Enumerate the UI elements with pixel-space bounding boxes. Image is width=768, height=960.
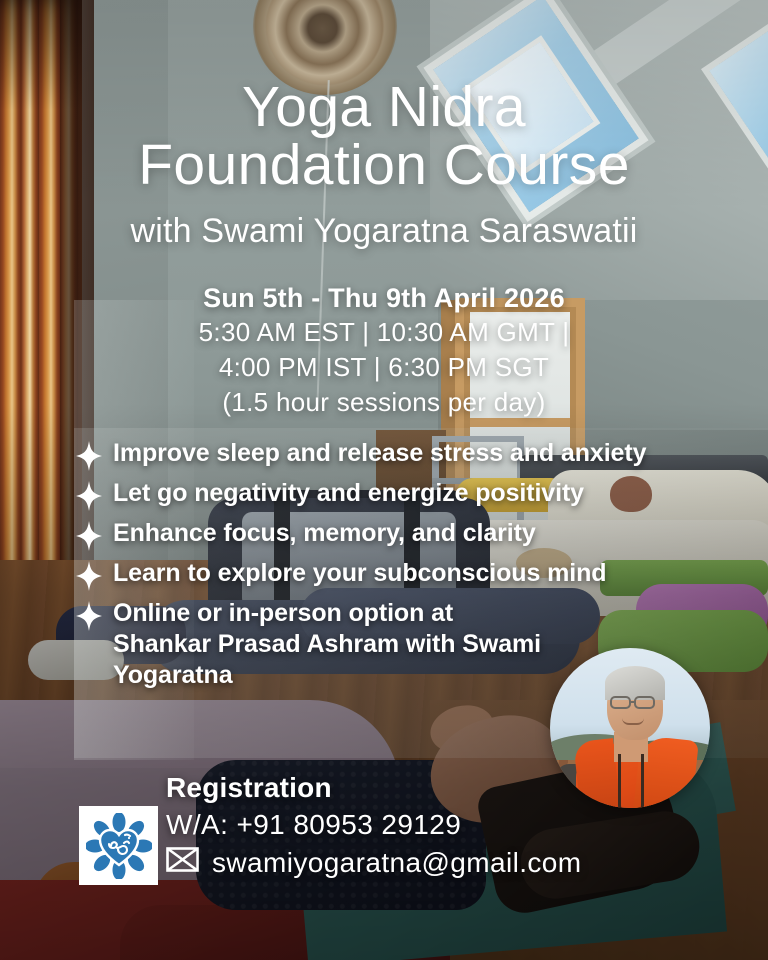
benefit-text: Learn to explore your subconscious mind (113, 558, 606, 589)
benefit-text: Improve sleep and release stress and anx… (113, 438, 646, 469)
four-point-star-icon (76, 441, 102, 471)
benefit-text: Let go negativity and energize positivit… (113, 478, 584, 509)
envelope-icon (166, 844, 199, 882)
four-point-star-icon (76, 481, 102, 511)
whatsapp-line: W/A: +91 80953 29129 (166, 806, 726, 844)
registration-block: Registration W/A: +91 80953 29129 swamiy… (166, 770, 726, 882)
subtitle: with Swami Yogaratna Saraswatii (0, 212, 768, 250)
four-point-star-icon (76, 561, 102, 591)
benefit-text: Online or in-person option at Shankar Pr… (113, 598, 553, 691)
title-line-2: Foundation Course (0, 136, 768, 194)
list-item: Learn to explore your subconscious mind (76, 558, 736, 591)
list-item: Improve sleep and release stress and anx… (76, 438, 736, 471)
poster-content: Yoga Nidra Foundation Course with Swami … (0, 0, 768, 960)
yoga-nidra-course-poster: Yoga Nidra Foundation Course with Swami … (0, 0, 768, 960)
date-range: Sun 5th - Thu 9th April 2026 (0, 282, 768, 315)
times-line-1: 5:30 AM EST | 10:30 AM GMT | (0, 315, 768, 350)
schedule-block: Sun 5th - Thu 9th April 2026 5:30 AM EST… (0, 282, 768, 420)
list-item: Let go negativity and energize positivit… (76, 478, 736, 511)
portrait-smile (622, 718, 644, 725)
whatsapp-number[interactable]: W/A: +91 80953 29129 (166, 806, 461, 844)
portrait-glasses-left-lens (610, 696, 631, 709)
lotus-om-heart-logo (79, 806, 158, 885)
lotus-icon (86, 813, 152, 879)
page-title: Yoga Nidra Foundation Course (0, 78, 768, 194)
portrait-gray-hair (605, 666, 665, 700)
list-item: Enhance focus, memory, and clarity (76, 518, 736, 551)
times-line-2: 4:00 PM IST | 6:30 PM SGT (0, 350, 768, 385)
duration-note: (1.5 hour sessions per day) (0, 385, 768, 420)
four-point-star-icon (76, 601, 102, 631)
title-line-1: Yoga Nidra (242, 75, 526, 139)
email-address[interactable]: swamiyogaratna@gmail.com (212, 844, 582, 882)
portrait-glasses-bridge (630, 701, 636, 703)
portrait-glasses-right-lens (634, 696, 655, 709)
email-line: swamiyogaratna@gmail.com (166, 844, 726, 882)
four-point-star-icon (76, 521, 102, 551)
registration-heading: Registration (166, 770, 726, 806)
benefit-text: Enhance focus, memory, and clarity (113, 518, 536, 549)
